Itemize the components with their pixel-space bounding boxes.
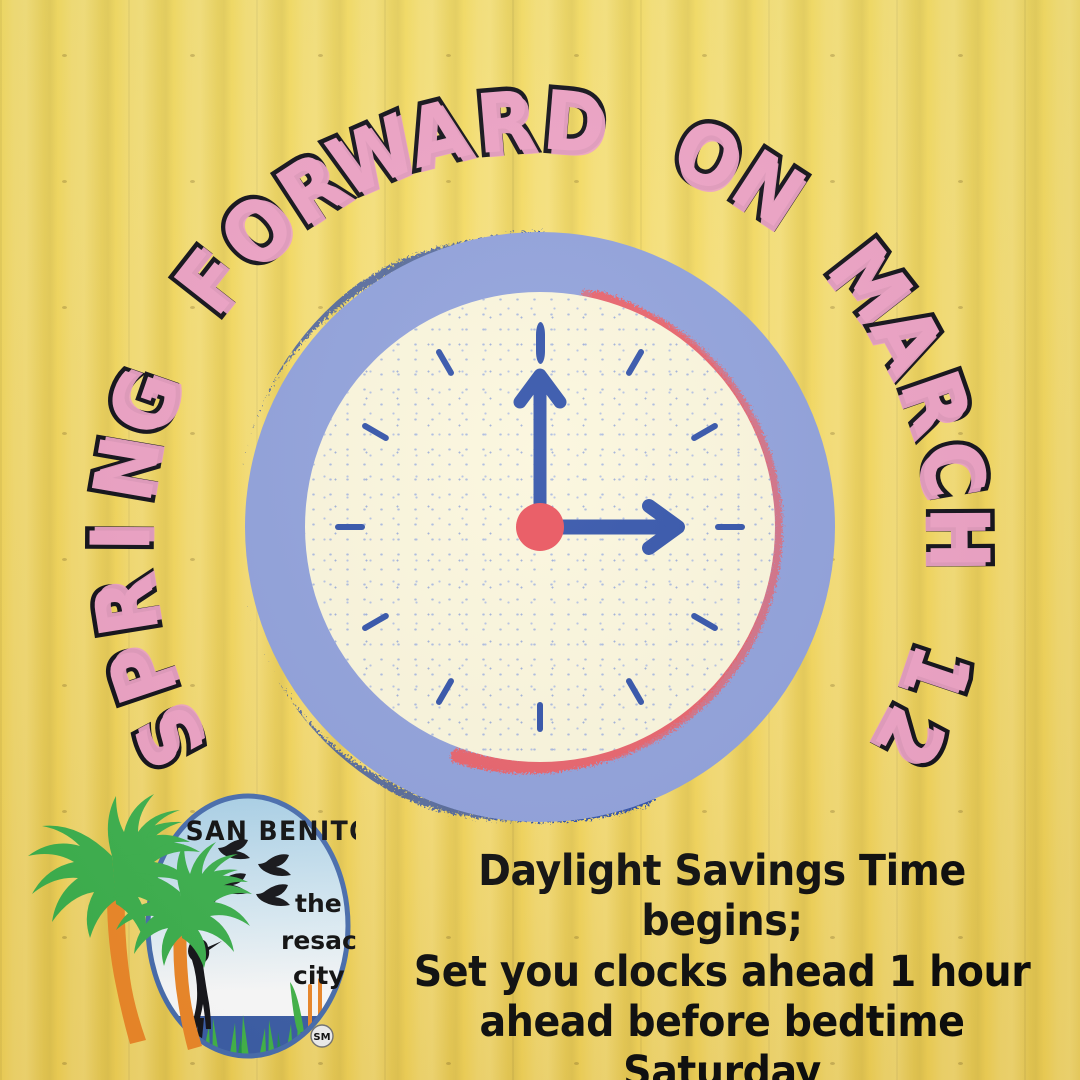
poster-canvas: SPRINGFORWARDONMARCH12 [0,0,1080,1080]
logo-tagline-line2: resaca [281,926,356,955]
body-line-3: ahead before bedtime Saturday [400,997,1044,1080]
body-line-2: Set you clocks ahead 1 hour [400,947,1044,997]
clock-center-hub [516,503,564,551]
logo-city-name: SAN BENITO [186,816,356,847]
san-benito-city-logo: SAN BENITO the resaca city SM [8,788,356,1078]
svg-text:SM: SM [313,1032,330,1043]
logo-tagline-line1: the [295,889,342,918]
logo-tagline-line3: city [293,961,345,990]
body-line-1: Daylight Savings Time begins; [400,846,1044,947]
logo-service-mark: SM [311,1025,333,1047]
body-copy: Daylight Savings Time begins; Set you cl… [372,846,1072,1080]
